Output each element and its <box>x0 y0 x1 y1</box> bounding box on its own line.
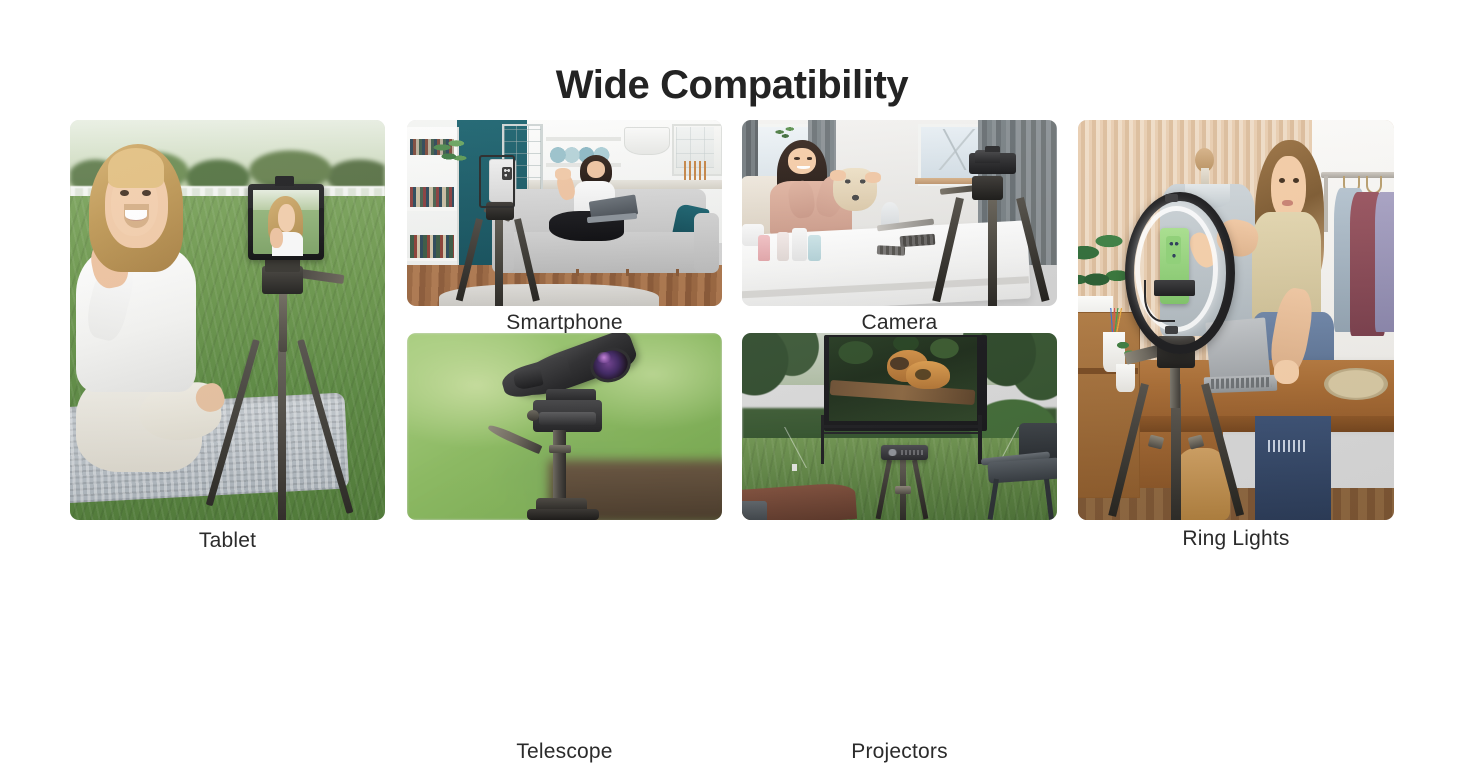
woman-eye-right <box>807 157 813 160</box>
screen-frame-crossbar <box>821 425 982 428</box>
center-column-collar <box>549 445 571 452</box>
woman-hand-right <box>865 172 881 183</box>
compatibility-item-projectors[interactable]: Projectors <box>742 333 1057 520</box>
woman-smile <box>797 166 810 169</box>
tablet-screen-person-hand <box>270 228 283 248</box>
phone-camera-lenses <box>1168 238 1180 261</box>
ringlights-scene <box>1078 120 1394 520</box>
books-row-2 <box>410 187 454 207</box>
caption-ringlights: Ring Lights <box>1078 526 1394 552</box>
guy-line-left <box>774 427 818 468</box>
smartphone-photo[interactable] <box>407 120 722 306</box>
potted-plant <box>429 131 473 172</box>
small-plant <box>770 122 802 142</box>
telescope-scene <box>407 333 722 520</box>
compatibility-item-ringlights[interactable]: Ring Lights <box>1078 120 1394 520</box>
dslr-camera-viewfinder <box>985 146 1001 152</box>
small-plant-pot <box>1116 364 1135 392</box>
man-hair-front <box>108 148 165 188</box>
caption-projectors: Projectors <box>742 739 1057 765</box>
tripod-head-base <box>539 412 596 425</box>
page-title: Wide Compatibility <box>0 60 1464 110</box>
dslr-camera-lens <box>975 150 1000 163</box>
cosmetic-bottle-pink <box>758 235 771 261</box>
screen-frame-crossbar-lower <box>821 432 982 434</box>
man-eye-right <box>142 190 150 196</box>
woman-eye-left <box>794 157 800 160</box>
tripod-legs <box>527 509 599 520</box>
tablet-holder-grip-left <box>248 208 253 236</box>
screen-post-left <box>821 415 824 464</box>
phone-holder-clamp <box>479 155 515 207</box>
range-hood <box>624 127 670 155</box>
camera-photo[interactable] <box>742 120 1057 306</box>
laptop-keyboard <box>1211 377 1271 389</box>
woven-placemat <box>1324 368 1387 400</box>
hanging-shirt-lavender <box>1375 192 1394 332</box>
compatibility-grid: Tablet <box>70 120 1394 570</box>
projectors-photo[interactable] <box>742 333 1057 520</box>
cosmetic-bottle-white <box>777 232 790 262</box>
smartphone-scene <box>407 120 722 306</box>
clothing-rack-leg <box>1324 176 1328 232</box>
bookshelf-divider-2 <box>407 207 457 211</box>
woman-waving-hand <box>555 168 571 179</box>
tripod-leg-lock <box>895 486 911 493</box>
telescope-photo[interactable] <box>407 333 722 520</box>
compatibility-item-camera[interactable]: Camera <box>742 120 1057 306</box>
compatibility-item-telescope[interactable]: Telescope <box>407 333 722 520</box>
woman-face <box>587 161 606 178</box>
sofa-arm-right <box>694 213 719 273</box>
compatibility-item-smartphone[interactable]: Smartphone <box>407 120 722 306</box>
tripod-leg-center <box>278 340 286 520</box>
tablet-holder-top-clip <box>275 176 294 186</box>
wooden-utensils <box>684 161 709 181</box>
jeans-rip-detail <box>1268 440 1306 452</box>
lens-coating-reflection <box>596 352 612 363</box>
tripod-center-column <box>553 430 566 501</box>
sofa-legs <box>514 269 697 276</box>
man-eye-left <box>120 190 128 196</box>
kitchen-shelf-top <box>546 137 622 142</box>
woman-hand-left <box>830 170 846 181</box>
compatibility-page: Wide Compatibility <box>0 0 1464 600</box>
tilt-lock-knob <box>527 410 540 421</box>
projectors-scene <box>742 333 1057 520</box>
ring-light-tab-top <box>1165 194 1178 202</box>
woman-face <box>1271 156 1306 220</box>
tripod-leg-center <box>988 198 997 306</box>
cosmetic-bottle-tall <box>792 228 806 261</box>
tablet-scene <box>70 120 385 520</box>
woman-jeans-lower <box>1255 416 1331 520</box>
tablet-holder-grip-right <box>319 208 324 236</box>
tablet-screen-person-face <box>278 204 295 232</box>
books-row-3 <box>410 235 454 257</box>
tripod-leg-center <box>495 219 503 306</box>
caption-telescope: Telescope <box>407 739 722 765</box>
caption-tablet: Tablet <box>70 528 385 554</box>
screen-post-right <box>978 415 982 464</box>
compatibility-item-tablet[interactable]: Tablet <box>70 120 385 520</box>
ring-light-tab-bottom <box>1165 326 1178 334</box>
ground-stake-left <box>792 464 796 471</box>
tripod-head <box>972 176 1004 200</box>
woman-face <box>788 148 816 174</box>
projector-vent <box>901 450 923 456</box>
cosmetic-bottle-blue <box>808 235 821 261</box>
area-rug <box>439 284 660 306</box>
woman-hand-on-laptop <box>1274 360 1299 384</box>
equipment-case <box>742 501 767 520</box>
tablet-photo[interactable] <box>70 120 385 520</box>
projected-monkey-2-face <box>915 369 931 380</box>
bookshelf-divider-3 <box>407 258 457 262</box>
ringlights-photo[interactable] <box>1078 120 1394 520</box>
projector-lens <box>887 449 898 456</box>
camera-scene <box>742 120 1057 306</box>
